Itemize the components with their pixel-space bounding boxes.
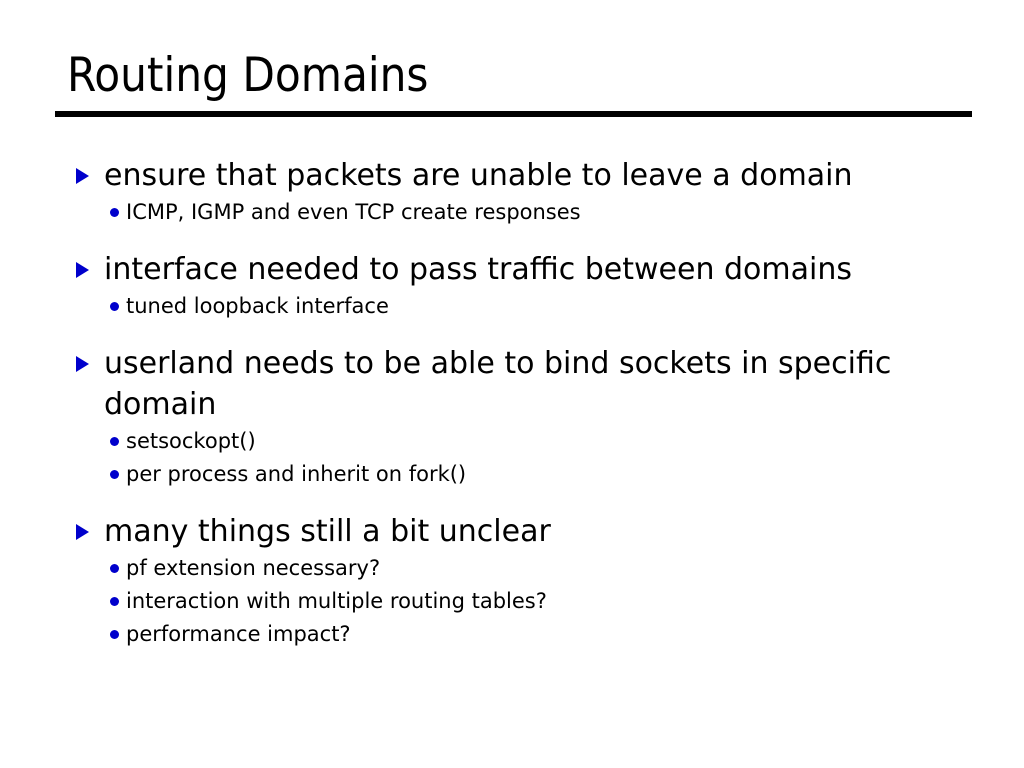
dot-icon — [110, 470, 119, 479]
dot-icon — [110, 208, 119, 217]
bullet-level2-label: pf extension necessary? — [126, 552, 970, 585]
triangle-right-icon — [76, 262, 89, 278]
page-title: Routing Domains — [55, 48, 972, 104]
triangle-right-icon — [76, 524, 89, 540]
dot-icon — [110, 437, 119, 446]
bullet-level1: many things still a bit unclear — [70, 511, 970, 552]
bullet-level1: ensure that packets are unable to leave … — [70, 155, 970, 196]
bullet-sublist: setsockopt() per process and inherit on … — [70, 425, 970, 491]
bullet-group: interface needed to pass traffic between… — [70, 249, 970, 323]
bullet-level2: setsockopt() — [70, 425, 970, 458]
bullet-group: userland needs to be able to bind socket… — [70, 343, 970, 491]
bullet-level2-label: per process and inherit on fork() — [126, 458, 970, 491]
bullet-level2: performance impact? — [70, 618, 970, 651]
bullet-level1-label: interface needed to pass traffic between… — [104, 249, 970, 290]
bullet-sublist: tuned loopback interface — [70, 290, 970, 323]
bullet-level1-label: many things still a bit unclear — [104, 511, 970, 552]
dot-icon — [110, 630, 119, 639]
bullet-level2-label: setsockopt() — [126, 425, 970, 458]
dot-icon — [110, 302, 119, 311]
dot-icon — [110, 597, 119, 606]
bullet-level2: per process and inherit on fork() — [70, 458, 970, 491]
title-block: Routing Domains — [55, 48, 972, 117]
bullet-level2: tuned loopback interface — [70, 290, 970, 323]
slide-body: ensure that packets are unable to leave … — [70, 155, 970, 651]
bullet-level2: interaction with multiple routing tables… — [70, 585, 970, 618]
bullet-level1-label: userland needs to be able to bind socket… — [104, 343, 970, 425]
bullet-level2-label: tuned loopback interface — [126, 290, 970, 323]
bullet-sublist: ICMP, IGMP and even TCP create responses — [70, 196, 970, 229]
bullet-level2-label: interaction with multiple routing tables… — [126, 585, 970, 618]
triangle-right-icon — [76, 168, 89, 184]
title-divider — [55, 111, 972, 117]
bullet-level2: pf extension necessary? — [70, 552, 970, 585]
bullet-sublist: pf extension necessary? interaction with… — [70, 552, 970, 651]
bullet-group: many things still a bit unclear pf exten… — [70, 511, 970, 651]
bullet-level1-label: ensure that packets are unable to leave … — [104, 155, 970, 196]
bullet-level1: userland needs to be able to bind socket… — [70, 343, 970, 425]
bullet-level2-label: ICMP, IGMP and even TCP create responses — [126, 196, 970, 229]
triangle-right-icon — [76, 356, 89, 372]
bullet-level2-label: performance impact? — [126, 618, 970, 651]
dot-icon — [110, 564, 119, 573]
slide: Routing Domains ensure that packets are … — [0, 0, 1024, 768]
bullet-level2: ICMP, IGMP and even TCP create responses — [70, 196, 970, 229]
bullet-group: ensure that packets are unable to leave … — [70, 155, 970, 229]
bullet-level1: interface needed to pass traffic between… — [70, 249, 970, 290]
